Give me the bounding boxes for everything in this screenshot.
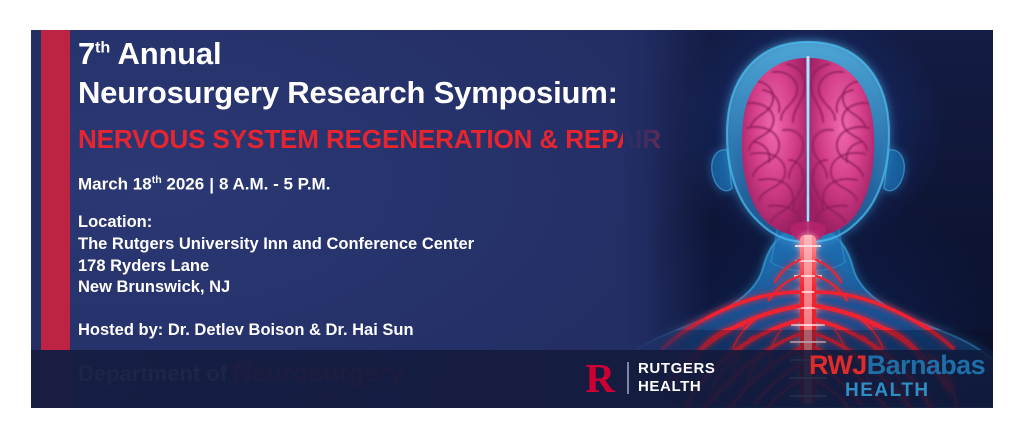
rutgers-wordmark-line2: HEALTH [638, 378, 716, 396]
title-line-1-text: Annual [110, 36, 221, 71]
rwjbarnabas-health-word: HEALTH [845, 381, 985, 400]
logo-divider [627, 362, 629, 394]
title-line-2: Neurosurgery Research Symposium: [78, 77, 618, 109]
rutgers-r-mark: R [580, 358, 620, 398]
rutgers-health-logo: R RUTGERS HEALTH [580, 356, 716, 400]
event-time: 8 A.M. - 5 P.M. [219, 175, 330, 194]
event-year: 2026 [162, 175, 205, 194]
symposium-subtitle: NERVOUS SYSTEM REGENERATION & REPAIR [78, 124, 661, 155]
rwj-initials: RWJ [809, 350, 867, 380]
datetime-separator: | [204, 175, 219, 194]
barnabas-word: Barnabas [867, 350, 985, 380]
location-venue: The Rutgers University Inn and Conferenc… [78, 234, 474, 256]
symposium-banner: 7th Annual Neurosurgery Research Symposi… [31, 30, 993, 408]
rutgers-wordmark-line1: RUTGERS [638, 360, 716, 378]
hosted-by-line: Hosted by: Dr. Detlev Boison & Dr. Hai S… [78, 321, 414, 340]
rwjbarnabas-wordmark: RWJBarnabas [809, 352, 985, 379]
date-ordinal-suffix: th [152, 174, 162, 186]
location-street: 178 Ryders Lane [78, 256, 474, 278]
event-datetime: March 18th 2026|8 A.M. - 5 P.M. [78, 174, 330, 195]
title-line-1-number: 7 [78, 36, 95, 71]
event-location: Location: The Rutgers University Inn and… [78, 212, 474, 299]
brain [742, 56, 874, 242]
title-ordinal-suffix: th [95, 39, 110, 57]
event-date-prefix: March 18 [78, 175, 152, 194]
location-city: New Brunswick, NJ [78, 277, 474, 299]
title-line-1: 7th Annual [78, 38, 221, 70]
location-label: Location: [78, 212, 474, 234]
rutgers-wordmark: RUTGERS HEALTH [638, 360, 716, 397]
rwjbarnabas-health-logo: RWJBarnabas HEALTH [809, 352, 985, 400]
